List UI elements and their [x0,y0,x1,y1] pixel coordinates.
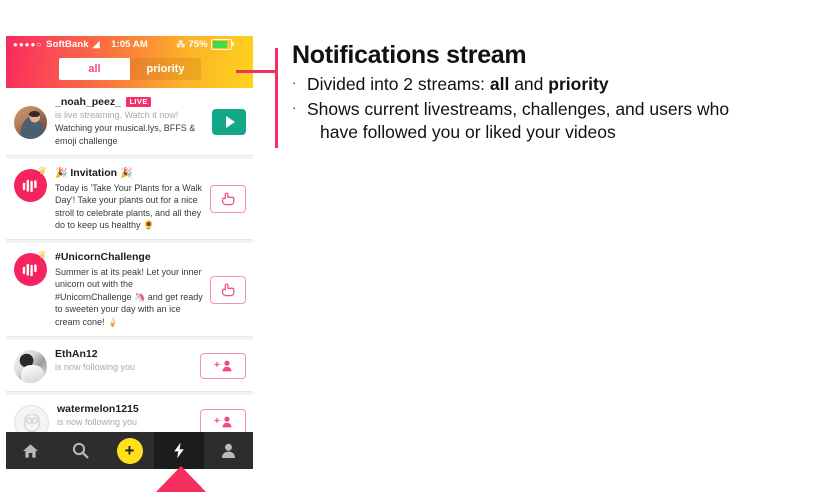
notification-title-row: 🎉 Invitation 🎉 [55,167,204,181]
tab-activity[interactable] [154,432,203,469]
musically-wave-icon [21,178,40,193]
follow-back-button[interactable]: + [200,409,246,435]
musically-wave-icon [21,262,40,277]
plus-sign: + [214,416,220,427]
row-action[interactable]: + [200,353,246,379]
lightning-bolt-icon [173,442,185,459]
annotation-bullet-2-line2: have followed you or liked your videos [320,121,812,144]
notification-body: Watching your musical.lys, BFFS & emoji … [55,122,206,147]
callout-arrow-up [156,466,206,492]
notification-row-challenge[interactable]: ♛ #UnicornChallenge Summer is at its pea… [6,243,253,337]
search-icon [72,442,89,459]
status-bar-right-cluster: ⁂ 75% ⚡ [176,39,246,50]
notification-content: _noah_peez_ LIVE is live streaming. Watc… [55,96,210,147]
crown-icon: ♛ [37,167,48,176]
musically-logo-avatar[interactable]: ♛ [14,169,47,202]
follow-back-button[interactable]: + [200,353,246,379]
notification-row-livestream[interactable]: _noah_peez_ LIVE is live streaming. Watc… [6,88,253,156]
bluetooth-icon: ⁂ [176,39,185,50]
charging-bolt-icon: ⚡ [235,39,246,50]
notification-subtitle: is live streaming. Watch it now! [55,110,206,121]
tab-create[interactable]: + [105,432,154,469]
person-icon [221,443,236,459]
notification-row-invitation[interactable]: ♛ 🎉 Invitation 🎉 Today is 'Take Your Pla… [6,159,253,240]
party-popper-icon-left: 🎉 [55,168,67,179]
bullet1-bold-all: all [490,74,509,94]
add-person-icon [222,360,232,372]
bottom-tab-bar[interactable]: + [6,432,253,469]
annotation-title: Notifications stream [292,42,812,70]
annotation-block: Notifications stream · Divided into 2 st… [292,42,812,144]
user-photo-avatar[interactable] [14,106,47,139]
add-person-icon [222,416,232,428]
username-row: _noah_peez_ LIVE [55,96,206,108]
bullet1-mid: and [509,74,548,94]
user-photo-avatar[interactable] [14,350,47,383]
notification-title: Invitation [70,167,117,179]
tap-hand-button[interactable] [210,185,246,213]
username-row: EthAn12 [55,348,194,360]
gradient-header: ●●●●○ SoftBank ◢ 1:05 AM ⁂ 75% ⚡ all pri… [6,36,253,88]
username-label: EthAn12 [55,348,98,360]
battery-percent-label: 75% [188,39,207,50]
stream-segmented-control[interactable]: all priority [59,58,201,80]
tap-hand-button[interactable] [210,276,246,304]
username-row: watermelon1215 [57,403,194,415]
notification-title: #UnicornChallenge [55,251,204,265]
tab-profile[interactable] [204,432,253,469]
party-popper-icon-right: 🎉 [120,168,132,179]
notification-subtitle: is now following you [57,417,194,428]
create-button[interactable]: + [117,438,143,464]
notification-subtitle: is now following you [55,362,194,373]
annotation-bullet-2-line1: Shows current livestreams, challenges, a… [307,98,729,121]
status-bar: ●●●●○ SoftBank ◢ 1:05 AM ⁂ 75% ⚡ [6,36,253,53]
callout-horizontal-line [236,70,278,73]
battery-icon [211,39,232,50]
tab-home[interactable] [6,432,55,469]
home-icon [22,443,39,459]
notification-body: Today is 'Take Your Plants for a Walk Da… [55,182,204,232]
hand-tap-icon [221,283,236,297]
hand-tap-icon [221,192,236,206]
row-action[interactable]: + [200,409,246,435]
tab-discover[interactable] [55,432,104,469]
bullet1-pre: Divided into 2 streams: [307,74,490,94]
row-action[interactable] [212,109,246,135]
play-icon [226,116,235,128]
live-badge: LIVE [126,97,151,108]
tab-all[interactable]: all [59,58,130,80]
annotation-bullet-2: · Shows current livestreams, challenges,… [292,98,812,121]
musically-logo-avatar[interactable]: ♛ [14,253,47,286]
crown-icon: ♛ [37,251,48,260]
callout-vertical-line [275,48,278,148]
bullet1-bold-priority: priority [548,74,608,94]
play-button[interactable] [212,109,246,135]
notification-content: EthAn12 is now following you [55,348,198,373]
bullet-marker: · [292,73,307,96]
row-action[interactable] [210,185,246,213]
notification-row-follow[interactable]: EthAn12 is now following you + [6,340,253,392]
notification-content: #UnicornChallenge Summer is at its peak!… [55,251,208,328]
plus-sign: + [214,360,220,371]
bullet-marker: · [292,98,307,121]
notifications-list[interactable]: _noah_peez_ LIVE is live streaming. Watc… [6,88,253,449]
notification-body: Summer is at its peak! Let your inner un… [55,266,204,328]
annotation-bullet-1: · Divided into 2 streams: all and priori… [292,73,812,96]
username-label: watermelon1215 [57,403,139,415]
owl-icon [21,412,43,434]
notification-content: 🎉 Invitation 🎉 Today is 'Take Your Plant… [55,167,208,231]
notification-content: watermelon1215 is now following you [57,403,198,428]
plus-icon: + [125,442,135,459]
phone-screenshot: ●●●●○ SoftBank ◢ 1:05 AM ⁂ 75% ⚡ all pri… [6,36,253,469]
row-action[interactable] [210,276,246,304]
username-label: _noah_peez_ [55,96,121,108]
tab-priority[interactable]: priority [130,58,201,80]
annotation-bullet-1-text: Divided into 2 streams: all and priority [307,73,609,96]
